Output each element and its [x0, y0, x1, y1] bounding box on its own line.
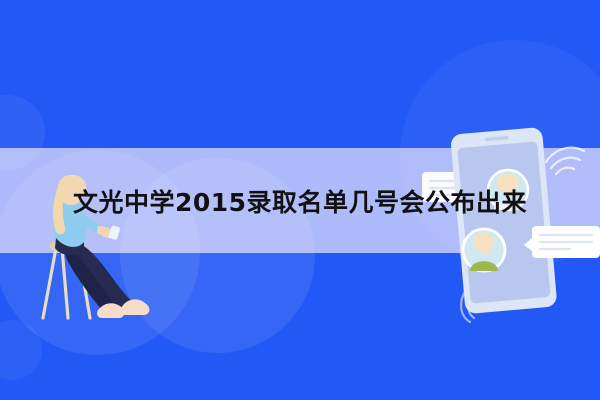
banner-image: 文光中学2015录取名单几号会公布出来	[0, 0, 600, 400]
page-title: 文光中学2015录取名单几号会公布出来	[0, 148, 600, 253]
